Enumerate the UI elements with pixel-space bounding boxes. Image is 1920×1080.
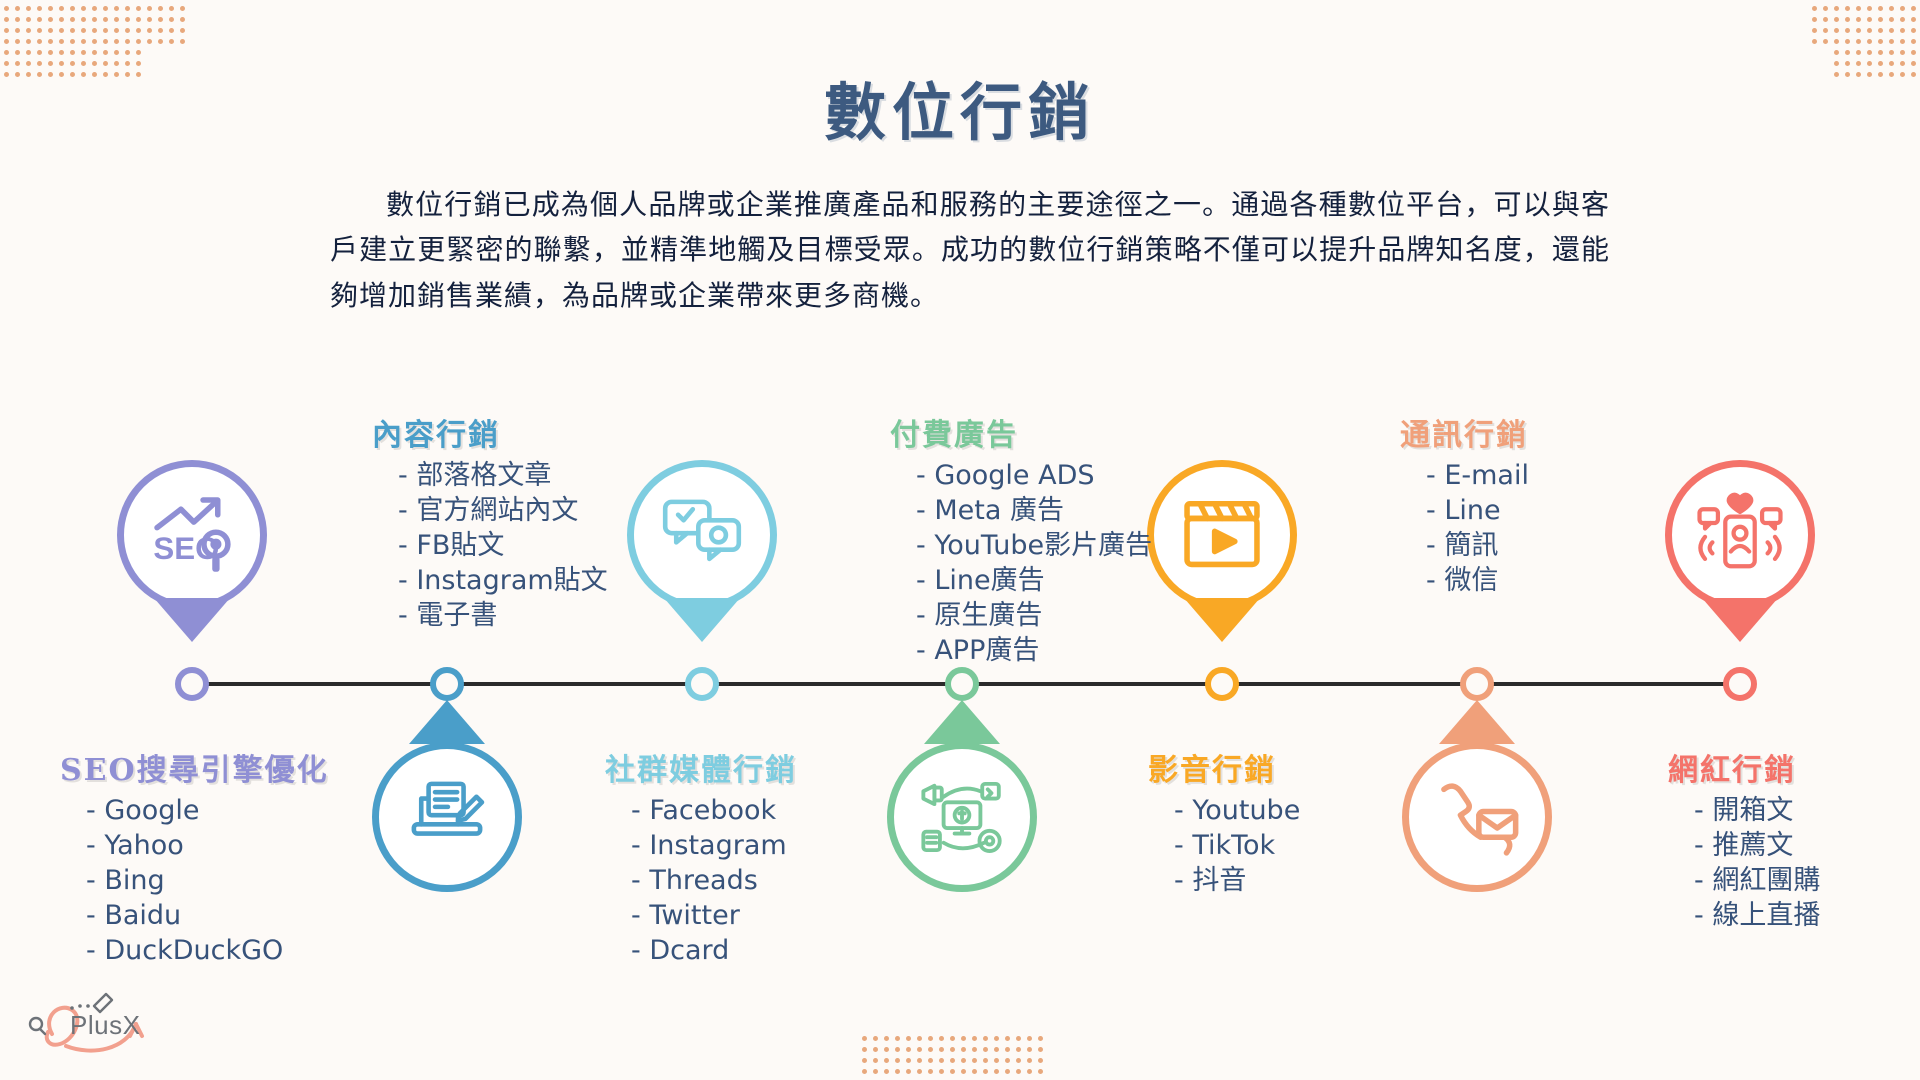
section-heading-content: 內容行銷: [372, 410, 608, 454]
list-item: - 簡訊: [1426, 528, 1529, 563]
pin-bubble-video: [1147, 460, 1297, 610]
timeline-node-messaging[interactable]: [1460, 667, 1494, 701]
section-block-paid: 付費廣告- Google ADS- Meta 廣告- YouTube影片廣告- …: [890, 410, 1152, 669]
list-item: - Line: [1426, 493, 1529, 528]
video-player-icon: [1176, 489, 1268, 581]
list-item: - 線上直播: [1694, 898, 1820, 933]
list-item: - 部落格文章: [398, 458, 608, 493]
list-item: - 官方網站內文: [398, 493, 608, 528]
pin-content[interactable]: [372, 742, 522, 892]
section-list-influencer: - 開箱文- 推薦文- 網紅團購- 線上直播: [1668, 793, 1820, 933]
pin-social[interactable]: [627, 460, 777, 610]
section-block-social: 社群媒體行銷- Facebook- Instagram- Threads- Tw…: [605, 745, 797, 968]
timeline-node-video[interactable]: [1205, 667, 1239, 701]
list-item: - Instagram: [631, 828, 797, 863]
pin-tail-content: [409, 700, 485, 744]
section-block-messaging: 通訊行銷- E-mail- Line- 簡訊- 微信: [1400, 410, 1529, 598]
list-item: - Bing: [86, 863, 329, 898]
section-list-content: - 部落格文章- 官方網站內文- FB貼文- Instagram貼文- 電子書: [372, 458, 608, 633]
timeline-node-seo[interactable]: [175, 667, 209, 701]
logo-wordmark: PlusX: [70, 1010, 140, 1041]
pin-bubble-content: [372, 742, 522, 892]
list-item: - 原生廣告: [916, 598, 1152, 633]
pin-messaging[interactable]: [1402, 742, 1552, 892]
list-item: - Facebook: [631, 793, 797, 828]
list-item: - DuckDuckGO: [86, 933, 329, 968]
pin-influencer[interactable]: [1665, 460, 1815, 610]
section-list-social: - Facebook- Instagram- Threads- Twitter-…: [605, 793, 797, 968]
list-item: - FB貼文: [398, 528, 608, 563]
pin-tail-influencer: [1702, 598, 1778, 642]
section-block-influencer: 網紅行銷- 開箱文- 推薦文- 網紅團購- 線上直播: [1668, 745, 1820, 933]
pin-tail-social: [664, 598, 740, 642]
pin-bubble-social: [627, 460, 777, 610]
list-item: - 開箱文: [1694, 793, 1820, 828]
list-item: - Meta 廣告: [916, 493, 1152, 528]
section-heading-messaging: 通訊行銷: [1400, 410, 1529, 454]
section-heading-paid: 付費廣告: [890, 410, 1152, 454]
section-block-content: 內容行銷- 部落格文章- 官方網站內文- FB貼文- Instagram貼文- …: [372, 410, 608, 633]
timeline-node-influencer[interactable]: [1723, 667, 1757, 701]
list-item: - E-mail: [1426, 458, 1529, 493]
pin-tail-paid: [924, 700, 1000, 744]
section-heading-seo: SEO搜尋引擎優化: [60, 745, 329, 789]
list-item: - Twitter: [631, 898, 797, 933]
list-item: - Youtube: [1174, 793, 1300, 828]
list-item: - Baidu: [86, 898, 329, 933]
pin-bubble-paid: [887, 742, 1037, 892]
section-list-seo: - Google- Yahoo- Bing- Baidu- DuckDuckGO: [60, 793, 329, 968]
list-item: - Line廣告: [916, 563, 1152, 598]
document-edit-icon: [401, 771, 493, 863]
section-list-messaging: - E-mail- Line- 簡訊- 微信: [1400, 458, 1529, 598]
list-item: - TikTok: [1174, 828, 1300, 863]
list-item: - 微信: [1426, 563, 1529, 598]
section-block-seo: SEO搜尋引擎優化- Google- Yahoo- Bing- Baidu- D…: [60, 745, 329, 968]
list-item: - 電子書: [398, 598, 608, 633]
chat-bubbles-icon: [656, 489, 748, 581]
list-item: - Yahoo: [86, 828, 329, 863]
pin-tail-video: [1184, 598, 1260, 642]
list-item: - 抖音: [1174, 863, 1300, 898]
list-item: - Instagram貼文: [398, 563, 608, 598]
pin-bubble-seo: SEO: [117, 460, 267, 610]
list-item: - APP廣告: [916, 633, 1152, 668]
section-list-paid: - Google ADS- Meta 廣告- YouTube影片廣告- Line…: [890, 458, 1152, 669]
section-heading-social: 社群媒體行銷: [605, 745, 797, 789]
pin-paid[interactable]: [887, 742, 1037, 892]
page-title: 數位行銷: [0, 62, 1920, 152]
pin-video[interactable]: [1147, 460, 1297, 610]
timeline-node-social[interactable]: [685, 667, 719, 701]
timeline-node-paid[interactable]: [945, 667, 979, 701]
list-item: - 推薦文: [1694, 828, 1820, 863]
list-item: - Threads: [631, 863, 797, 898]
seo-chart-icon: SEO: [146, 489, 238, 581]
infographic-canvas: 數位行銷 數位行銷已成為個人品牌或企業推廣產品和服務的主要途徑之一。通過各種數位…: [0, 0, 1920, 1080]
list-item: - Dcard: [631, 933, 797, 968]
list-item: - Google ADS: [916, 458, 1152, 493]
intro-paragraph: 數位行銷已成為個人品牌或企業推廣產品和服務的主要途徑之一。通過各種數位平台，可以…: [330, 182, 1610, 318]
pin-tail-seo: [154, 598, 230, 642]
section-heading-influencer: 網紅行銷: [1668, 745, 1820, 789]
list-item: - YouTube影片廣告: [916, 528, 1152, 563]
phone-email-icon: [1431, 771, 1523, 863]
section-list-video: - Youtube- TikTok- 抖音: [1148, 793, 1300, 898]
pin-bubble-messaging: [1402, 742, 1552, 892]
phone-heart-icon: [1694, 489, 1786, 581]
pin-tail-messaging: [1439, 700, 1515, 744]
list-item: - Google: [86, 793, 329, 828]
section-heading-video: 影音行銷: [1148, 745, 1300, 789]
pin-seo[interactable]: SEO: [117, 460, 267, 610]
timeline-node-content[interactable]: [430, 667, 464, 701]
section-block-video: 影音行銷- Youtube- TikTok- 抖音: [1148, 745, 1300, 898]
plusx-logo: PlusX: [22, 988, 172, 1060]
megaphone-screen-icon: [916, 771, 1008, 863]
list-item: - 網紅團購: [1694, 863, 1820, 898]
pin-bubble-influencer: [1665, 460, 1815, 610]
